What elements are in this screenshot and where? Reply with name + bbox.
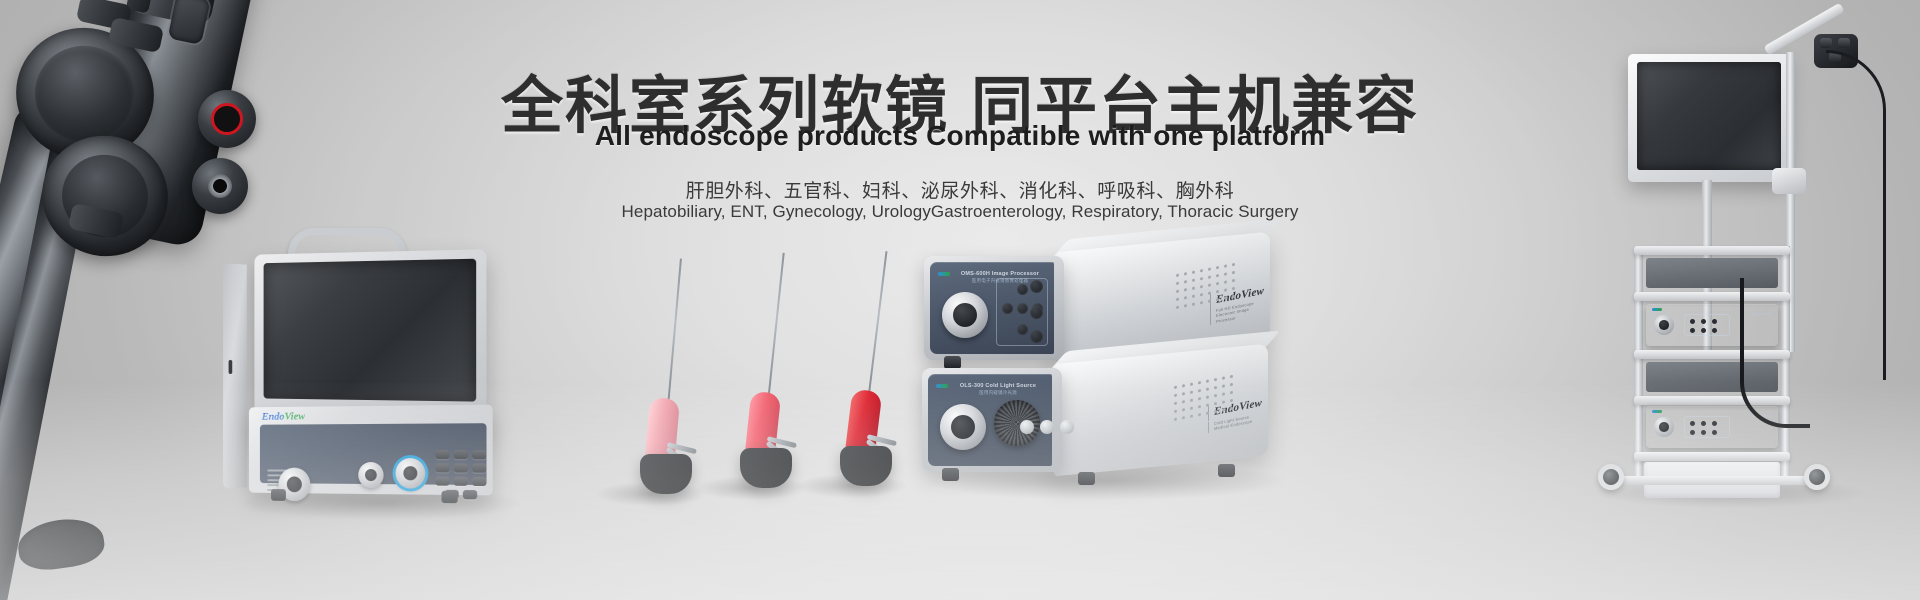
console-button-down[interactable] xyxy=(1017,324,1028,335)
console-stack: EndoViewFull HD Endoscope Electronic Ima… xyxy=(930,256,1280,474)
cart-wheel-right xyxy=(1804,464,1830,490)
banner-stage: OWS-100 医用内窥镜摄像系统 EndoView xyxy=(0,0,1920,600)
console-model-label: OLS-300 Cold Light Source 医用内窥镜冷光源 xyxy=(950,382,1046,397)
workstation-foot-left xyxy=(271,489,286,501)
console-foot-mid xyxy=(1078,472,1095,485)
console-button-left[interactable] xyxy=(1002,303,1013,314)
console-foot-right xyxy=(1218,464,1235,477)
workstation-control-panel xyxy=(260,423,487,485)
scope-rod xyxy=(666,259,682,419)
workstation-side-panel xyxy=(223,263,247,488)
scope-rod xyxy=(766,253,785,412)
console-status-led xyxy=(936,384,948,388)
cart-wheel-left xyxy=(1598,464,1624,490)
console-button-up[interactable] xyxy=(1017,284,1028,295)
scope-base xyxy=(840,446,892,486)
console-front-panel: OMS-600H Image Processor 医用电子内窥镜图像处理器 xyxy=(930,262,1054,354)
scope-base xyxy=(640,454,692,494)
cart-unit-keypad[interactable] xyxy=(1684,314,1730,336)
console-button-freeze[interactable] xyxy=(1030,280,1043,293)
console-status-led xyxy=(938,272,950,276)
departments-english: Hepatobiliary, ENT, Gynecology, UrologyG… xyxy=(0,202,1920,222)
console-button-lamp[interactable] xyxy=(1060,420,1074,434)
cart-unit-led xyxy=(1652,308,1662,311)
console-model-text: OMS-600H Image Processor xyxy=(961,271,1039,277)
console-light-port[interactable] xyxy=(940,404,986,450)
cart-unit-led xyxy=(1652,410,1662,413)
console-button-menu[interactable] xyxy=(1017,303,1028,314)
console-model-text: OLS-300 Cold Light Source xyxy=(960,383,1036,389)
endoscope-distal-tip xyxy=(15,514,107,574)
console-model-cn: 医用内窥镜冷光源 xyxy=(950,390,1046,397)
console-foot-left xyxy=(942,468,959,481)
console-button-manual[interactable] xyxy=(1040,420,1054,434)
workstation-dial-highlighted[interactable] xyxy=(395,458,425,489)
console-front-panel: OLS-300 Cold Light Source 医用内窥镜冷光源 xyxy=(928,374,1052,466)
workstation-dial-secondary[interactable] xyxy=(358,462,383,488)
workstation-screen xyxy=(264,259,477,402)
scope-base xyxy=(740,448,792,488)
cart-unit-keypad[interactable] xyxy=(1684,416,1730,438)
scope-rod xyxy=(866,251,887,410)
console-button-mode[interactable] xyxy=(1030,330,1043,343)
page-subheadline: All endoscope products Compatible with o… xyxy=(0,120,1920,152)
ows-workstation: OWS-100 医用内窥镜摄像系统 EndoView xyxy=(236,228,506,500)
cart-unit-light-port[interactable] xyxy=(1654,417,1674,437)
cart-light-guide-cable xyxy=(1740,278,1810,428)
cart-unit-connector[interactable] xyxy=(1654,315,1674,335)
workstation-side-slot xyxy=(229,360,233,374)
cold-light-source-console: EndoViewCold Light Source Medical Endosc… xyxy=(928,368,1268,468)
workstation-foot-right xyxy=(441,491,457,503)
console-chassis: EndoViewCold Light Source Medical Endosc… xyxy=(1054,344,1268,477)
workstation-brand-logo: EndoView xyxy=(262,411,305,423)
cart-base-axle xyxy=(1612,476,1812,485)
departments-chinese: 肝胆外科、五官科、妇科、泌尿外科、消化科、呼吸科、胸外科 xyxy=(0,176,1920,203)
cart-shelf-5 xyxy=(1634,452,1790,461)
workstation-base: EndoView xyxy=(249,405,493,496)
cart-rail-left xyxy=(1634,246,1643,478)
cart-shelf-1 xyxy=(1634,246,1790,255)
console-button-auto[interactable] xyxy=(1020,420,1034,434)
console-main-connector[interactable] xyxy=(942,292,988,338)
rigid-scope-red xyxy=(800,250,940,490)
console-button-enter[interactable] xyxy=(1030,306,1043,319)
